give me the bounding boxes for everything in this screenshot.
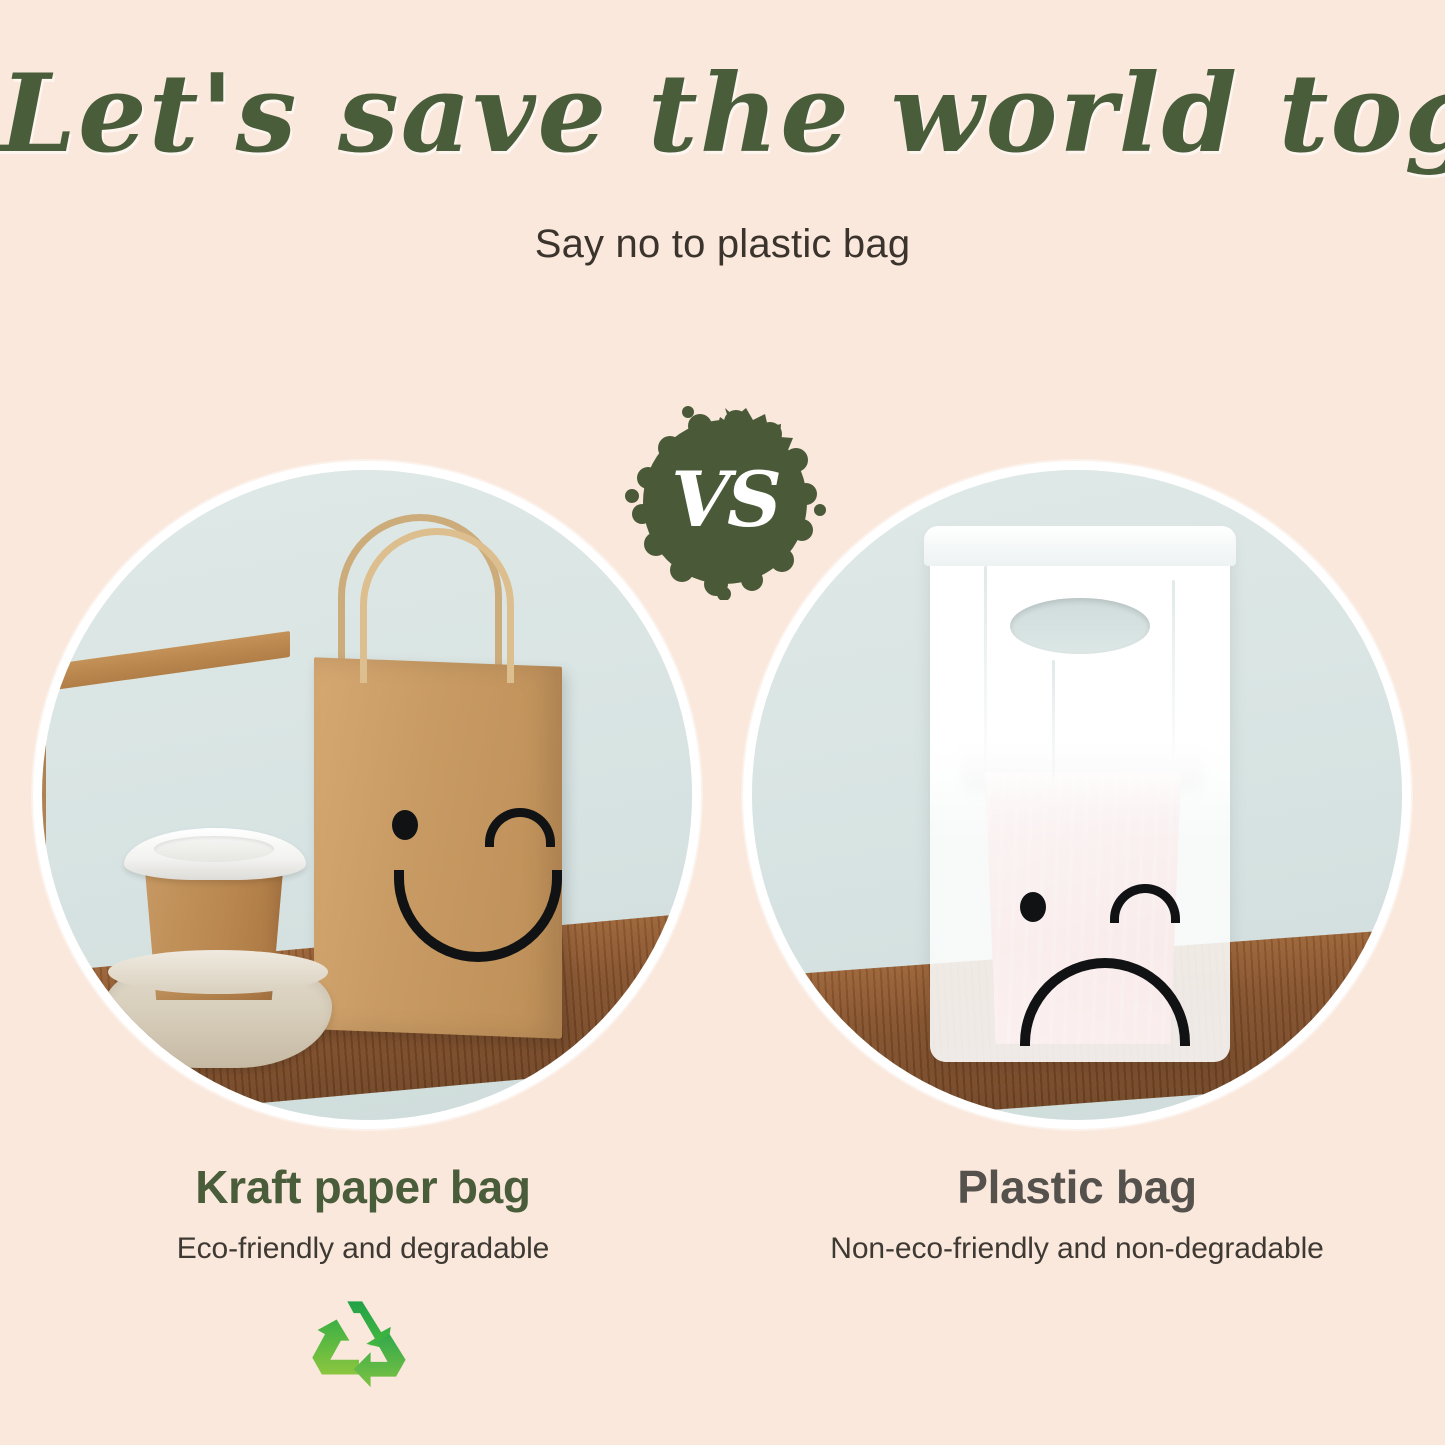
plastic-crease <box>1172 580 1175 770</box>
infographic-canvas: Let's save the world together Say no to … <box>0 0 1445 1445</box>
plastic-bag-label: Plastic bag <box>727 1160 1427 1214</box>
versus-label: VS <box>624 404 826 600</box>
kraft-bag-description: Eco-friendly and degradable <box>13 1232 713 1266</box>
versus-badge: VS <box>624 404 826 600</box>
kraft-bag-side-panel <box>42 663 46 1045</box>
bag-handle-front-icon <box>360 528 514 683</box>
plastic-crease <box>1052 660 1055 790</box>
plastic-bag-top-fold <box>924 526 1236 566</box>
plastic-bag-description: Non-eco-friendly and non-degradable <box>727 1232 1427 1266</box>
kraft-paper-bag <box>314 657 562 1039</box>
plastic-bag-photo-circle <box>752 470 1402 1120</box>
pulp-cup-holder-rim <box>108 950 328 994</box>
recycle-icon <box>307 1294 413 1400</box>
plastic-bag-handle-hole-icon <box>1010 598 1150 654</box>
page-title: Let's save the world together <box>0 58 1445 171</box>
page-subtitle: Say no to plastic bag <box>0 222 1445 267</box>
kraft-bag-photo-circle <box>42 470 692 1120</box>
kraft-bag-scene <box>42 470 692 1120</box>
plastic-bag-scene <box>752 470 1402 1120</box>
sad-eye-icon <box>1020 892 1046 922</box>
kraft-bag-label: Kraft paper bag <box>13 1160 713 1214</box>
plastic-crease <box>984 566 987 776</box>
coffee-cup-lid-inner <box>154 836 274 862</box>
smiley-eye-icon <box>392 810 418 840</box>
